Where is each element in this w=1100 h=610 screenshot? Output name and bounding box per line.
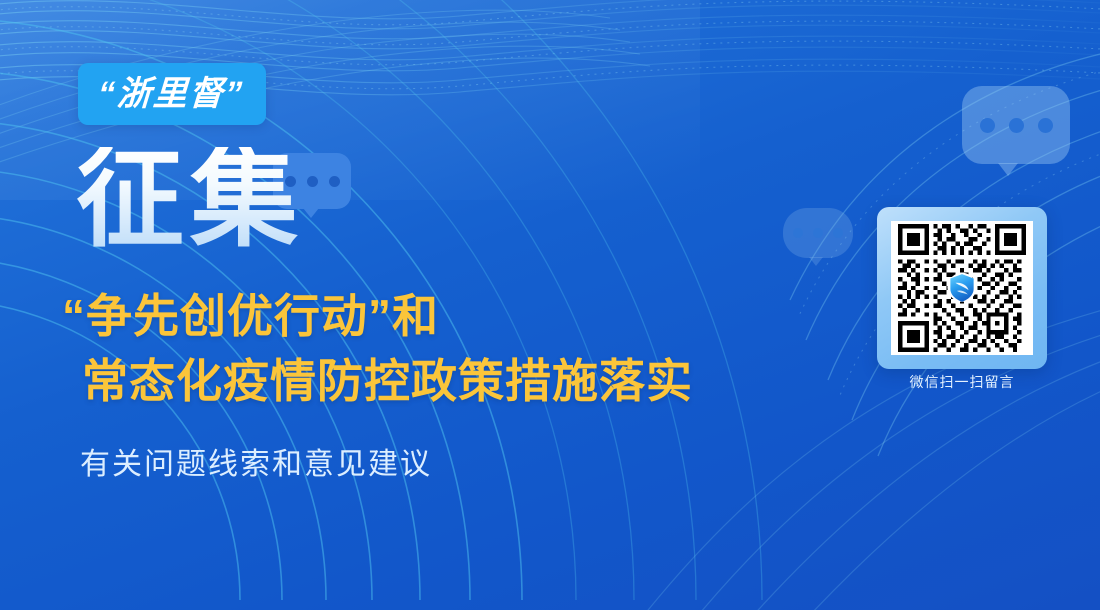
bubble-dot (307, 176, 318, 187)
shield-logo-icon (947, 272, 977, 304)
bubble-tail (998, 163, 1018, 176)
qr-code-card[interactable] (877, 207, 1047, 369)
headline-block: “争先创优行动”和 常态化疫情防控政策措施落实 (62, 284, 693, 415)
headline-line-1: “争先创优行动”和 (62, 284, 693, 349)
qr-code-caption: 微信扫一扫留言 (877, 373, 1047, 391)
bubble-tail (303, 208, 319, 218)
chat-bubble-icon-large (962, 86, 1070, 164)
bubble-dot (833, 228, 843, 238)
subtitle: 有关问题线索和意见建议 (80, 450, 432, 480)
bubble-dot (793, 228, 803, 238)
bubble-dot (1009, 118, 1024, 133)
chat-bubble-icon-small (783, 208, 853, 258)
bubble-tail (809, 257, 823, 266)
qr-code-frame (891, 221, 1033, 355)
poster-canvas: “浙里督” 征集 “争先创优行动”和 常态化疫情防控政策措施落实 有关问题线索和… (0, 0, 1100, 610)
bubble-dot (980, 118, 995, 133)
qr-code-image[interactable] (898, 224, 1026, 352)
bubble-dot (1038, 118, 1053, 133)
bubble-dot (813, 228, 823, 238)
headline-line-2: 常态化疫情防控政策措施落实 (62, 349, 693, 414)
program-badge: “浙里督” (78, 63, 266, 125)
bubble-dot (329, 176, 340, 187)
program-badge-label: “浙里督” (97, 77, 245, 111)
page-title: 征集 (76, 147, 304, 255)
